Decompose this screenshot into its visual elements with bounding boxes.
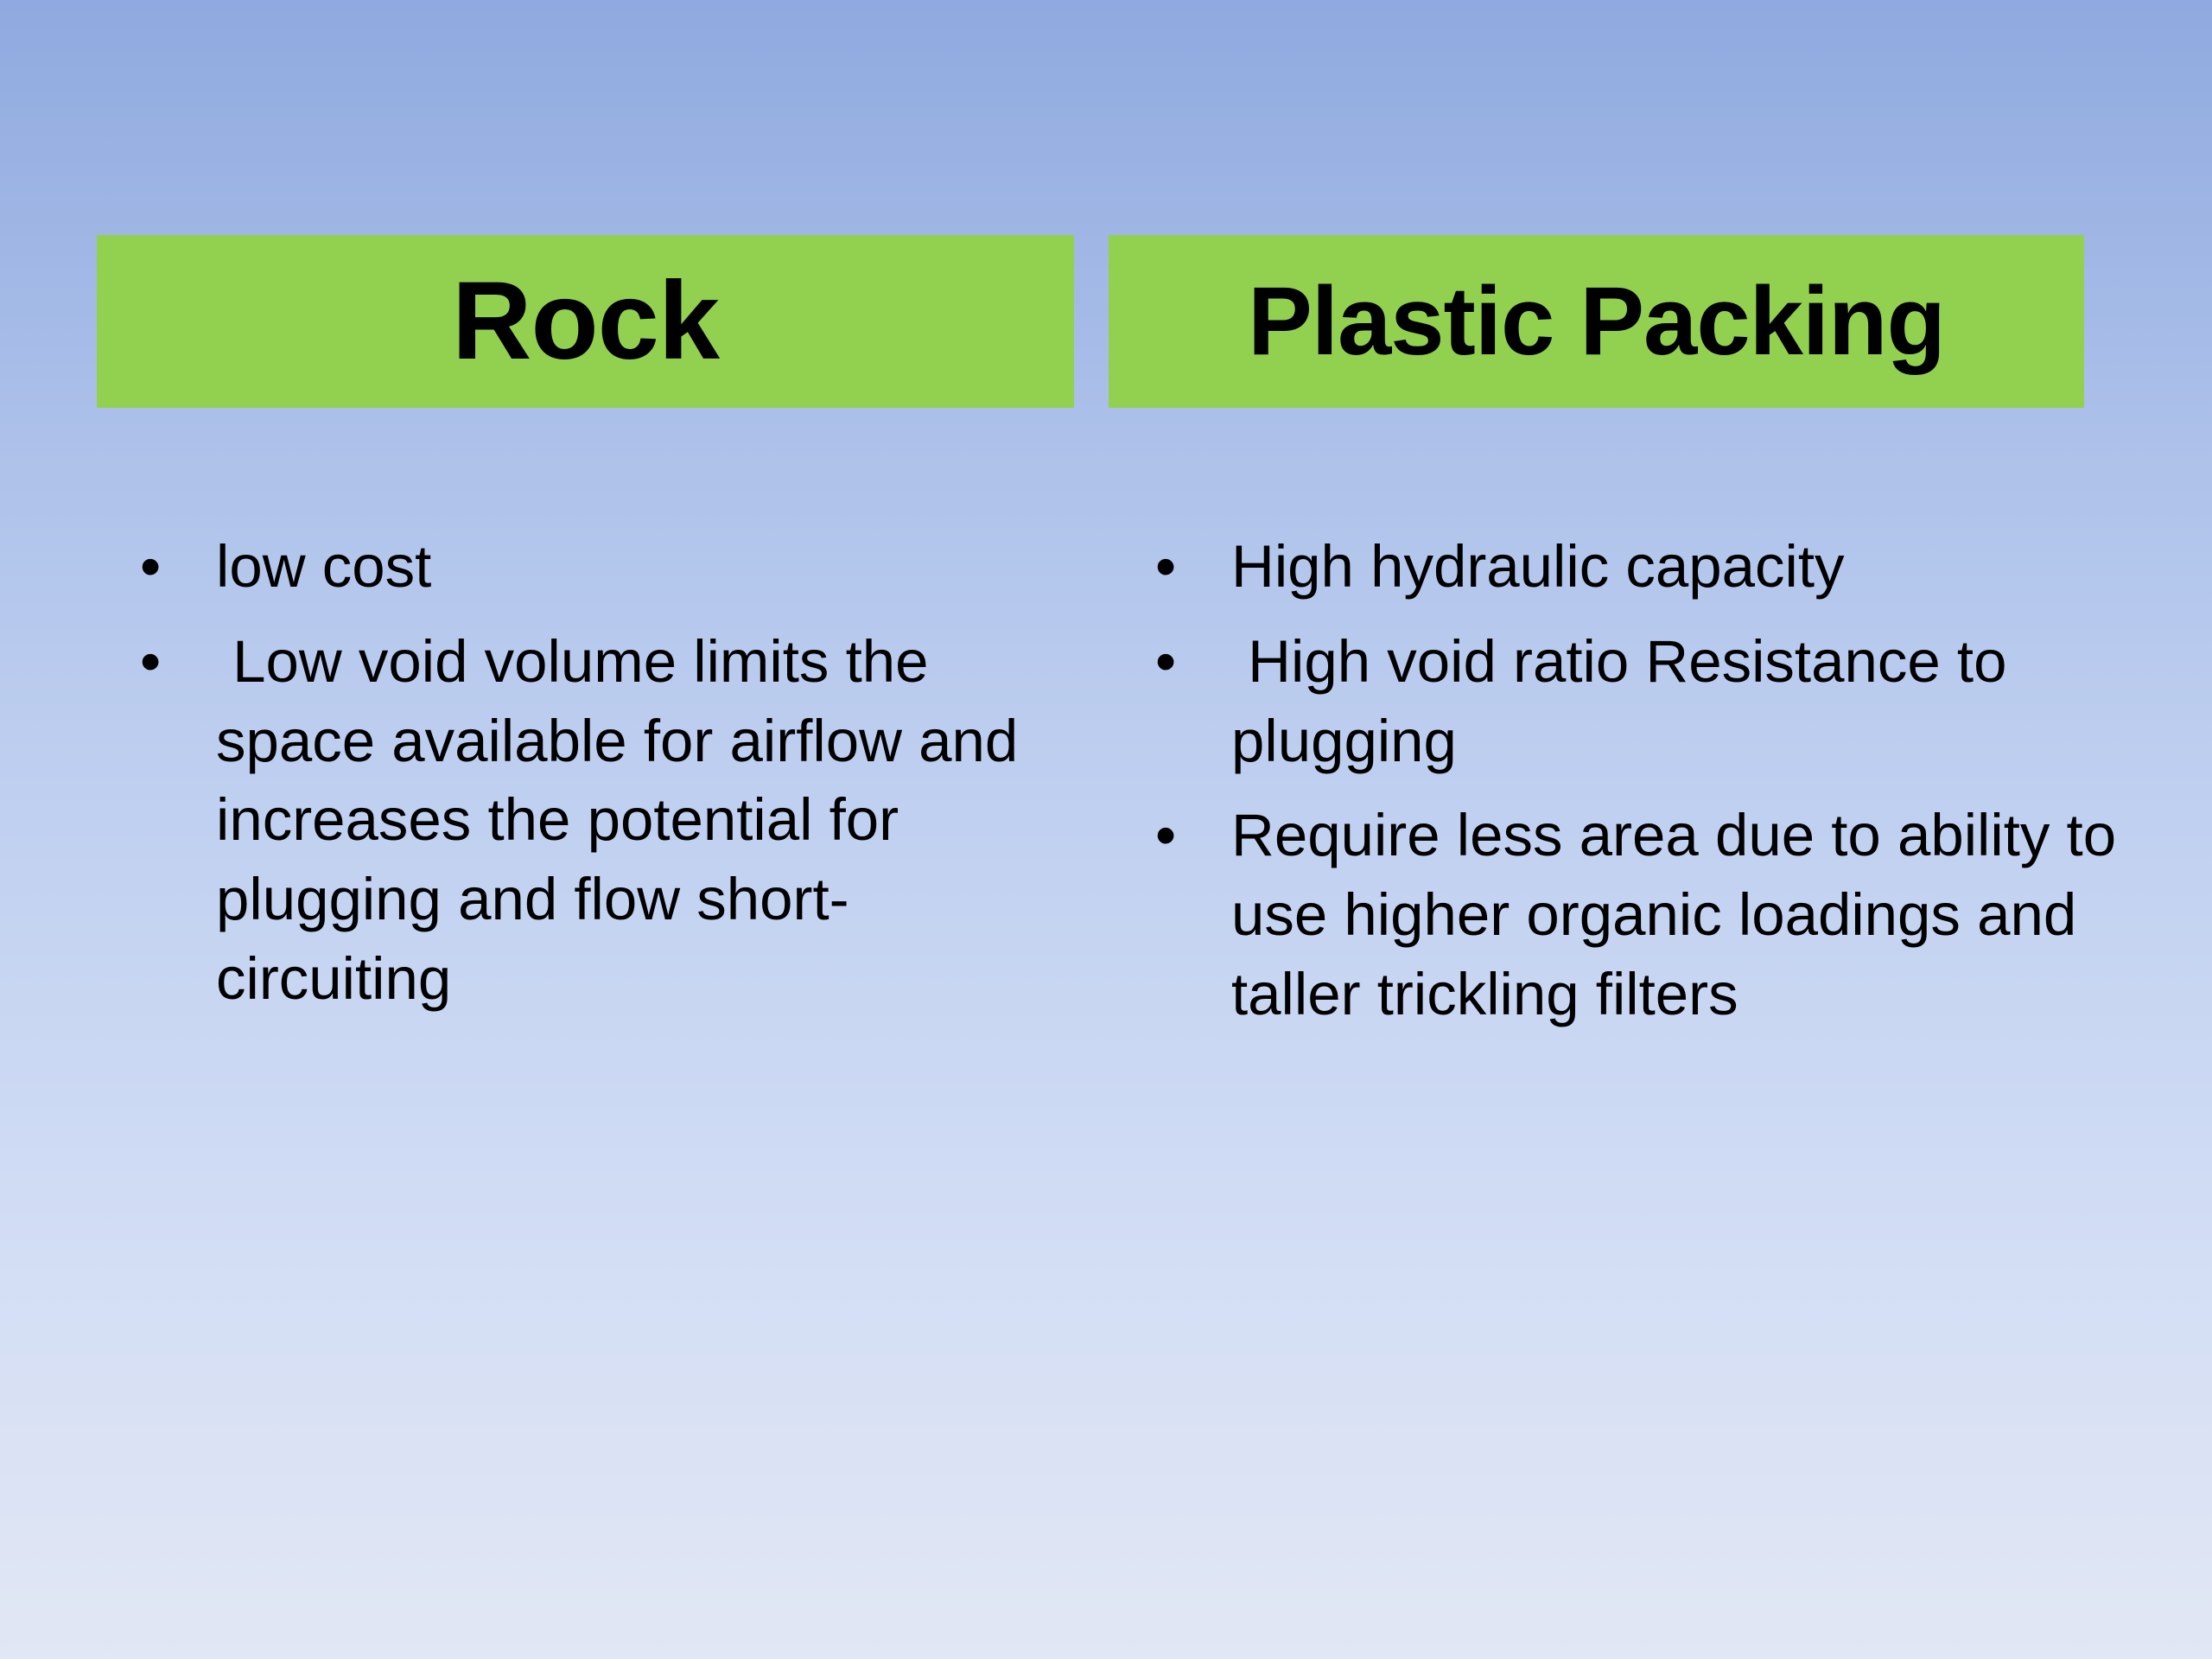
- bullet-point-icon: •: [140, 527, 161, 607]
- list-item: • High void ratio Resistance to plugging: [1145, 622, 2164, 781]
- bullet-point-icon: •: [140, 622, 161, 702]
- header-banner-plastic-packing: Plastic Packing: [1109, 235, 2084, 408]
- bullet-point-icon: •: [1155, 796, 1176, 875]
- list-item-text: low cost: [216, 527, 1080, 607]
- bullet-point-icon: •: [1155, 622, 1176, 702]
- bullet-list-plastic-packing: • High hydraulic capacity • High void ra…: [1145, 527, 2164, 1034]
- list-item: • Low void volume limits the space avail…: [130, 622, 1080, 1019]
- header-banner-rock: Rock: [97, 235, 1074, 408]
- bullet-list-rock: • low cost • Low void volume limits the …: [130, 527, 1080, 1019]
- bullet-point-icon: •: [1155, 527, 1176, 607]
- list-item: • High hydraulic capacity: [1145, 527, 2164, 607]
- list-item-text: Low void volume limits the space availab…: [216, 622, 1080, 1019]
- bullet-column-rock: • low cost • Low void volume limits the …: [130, 527, 1080, 1034]
- list-item-text: Require less area due to ability to use …: [1231, 796, 2164, 1033]
- header-title-rock: Rock: [452, 266, 719, 377]
- slide-canvas: Rock Plastic Packing • low cost • Low vo…: [0, 0, 2212, 1659]
- list-item-text: High void ratio Resistance to plugging: [1231, 622, 2164, 781]
- list-item-text: High hydraulic capacity: [1231, 527, 2164, 607]
- bullet-column-plastic-packing: • High hydraulic capacity • High void ra…: [1145, 527, 2164, 1050]
- list-item: • Require less area due to ability to us…: [1145, 796, 2164, 1033]
- header-title-plastic-packing: Plastic Packing: [1248, 273, 1945, 370]
- list-item: • low cost: [130, 527, 1080, 607]
